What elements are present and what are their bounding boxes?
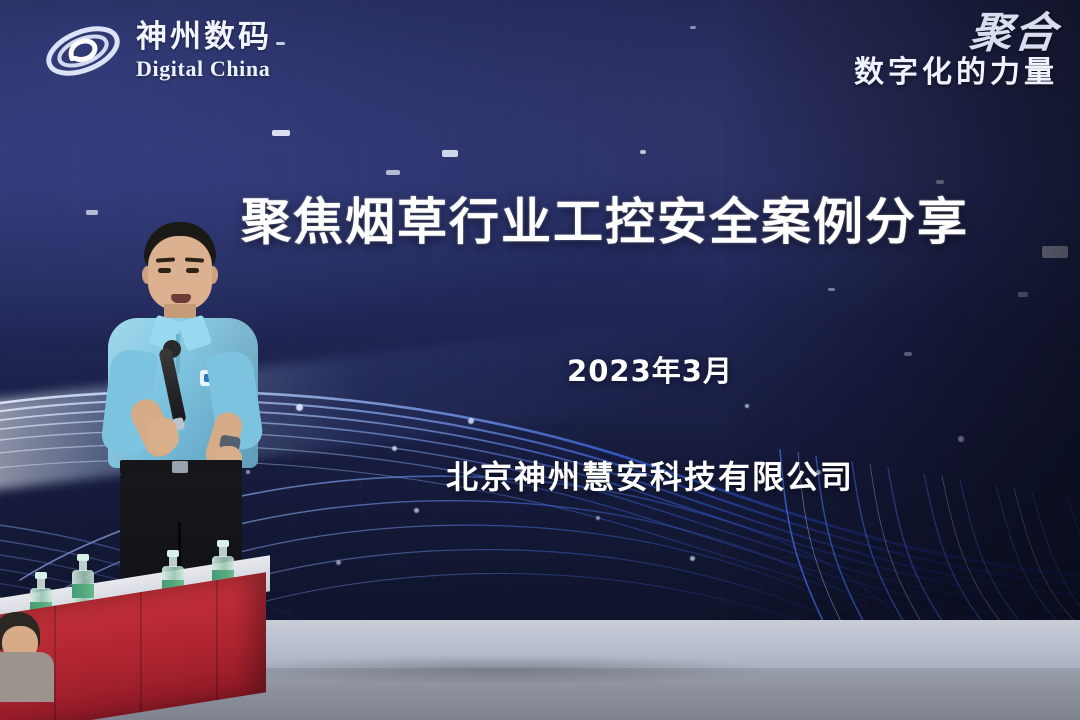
panel-table <box>0 560 300 720</box>
digital-china-logo: 神州数码 Digital China <box>42 18 272 84</box>
event-calligraphy: 聚合 <box>852 12 1060 54</box>
sparkle-dot <box>296 404 303 411</box>
attendee-body <box>0 652 54 702</box>
brand-name-en: Digital China <box>136 58 272 80</box>
particle-dash <box>640 150 646 154</box>
sparkle-dot <box>596 516 600 520</box>
brand-name-cn: 神州数码 <box>136 19 272 55</box>
skirt-fold <box>54 606 56 720</box>
particle-dash <box>276 42 285 45</box>
screen-right-vignette <box>720 0 1080 626</box>
bottle-neck <box>37 578 45 589</box>
particle-dash <box>386 170 400 175</box>
digital-china-wordmark: 神州数码 Digital China <box>136 22 272 80</box>
sparkle-dot <box>468 418 474 424</box>
sparkle-dot <box>690 556 695 561</box>
particle-dash <box>272 130 290 136</box>
bottle-neck <box>79 560 87 571</box>
sparkle-dot <box>392 446 397 451</box>
speaker-mouth <box>171 294 191 303</box>
event-tagline: 数字化的力量 <box>854 58 1058 88</box>
stage-shadow <box>220 655 780 685</box>
skirt-fold <box>216 580 218 700</box>
speaker-eye-right <box>186 268 199 273</box>
particle-dash <box>442 150 458 157</box>
particle-dash <box>690 26 696 29</box>
speaker-figure <box>96 222 286 612</box>
skirt-fold <box>140 592 142 712</box>
bottle-neck <box>169 556 177 567</box>
speaker-belt-buckle <box>172 461 188 473</box>
speaker-eye-left <box>158 268 171 273</box>
bottle-label <box>72 584 94 598</box>
event-brand: 聚合 数字化的力量 <box>854 12 1058 88</box>
digital-china-swirl-logo-icon <box>42 18 124 84</box>
conference-photo: 神州数码 Digital China 聚合 数字化的力量 聚焦烟草行业工控安全案… <box>0 0 1080 720</box>
bottle-neck <box>219 546 227 557</box>
sparkle-dot <box>414 508 419 513</box>
sparkle-dot <box>336 560 341 565</box>
